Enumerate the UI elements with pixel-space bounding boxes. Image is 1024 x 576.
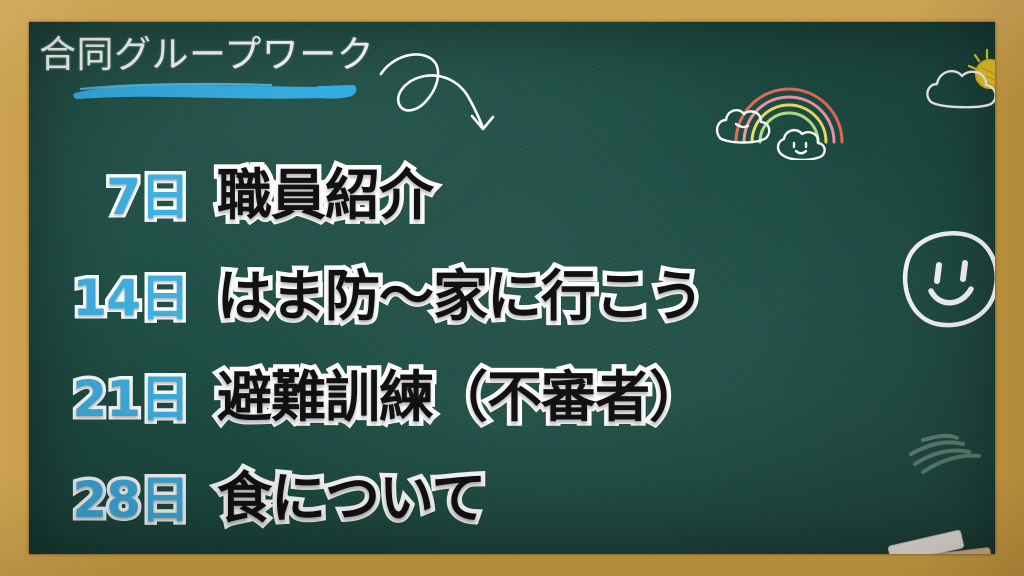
chalk-scribble-icon [893,424,995,486]
schedule-row: 7日 職員紹介 [29,150,789,251]
schedule-topic: 避難訓練（不審者） [217,352,703,432]
title-underline-swoosh [71,80,359,102]
schedule-topic: 職員紹介 [217,150,433,230]
schedule-row: 28日 食について [29,453,789,554]
schedule-date: 14日 [29,258,189,330]
curly-arrow-icon [377,48,507,138]
rainbow-with-clouds-icon [714,50,864,160]
schedule-row: 14日 はま防〜家に行こう [29,251,789,352]
schedule-date: 28日 [29,460,189,532]
schedule-row: 21日 避難訓練（不審者） [29,352,789,453]
chalk-sticks-icon [887,518,995,554]
slide-canvas: 合同グループワーク 7日 職員紹介 14日 はま防〜家に行こう [0,0,1024,576]
smiley-face-icon [895,227,995,333]
schedule-date: 7日 [29,157,189,229]
schedule-topic: 食について [217,453,485,533]
chalkboard: 合同グループワーク 7日 職員紹介 14日 はま防〜家に行こう [29,22,995,554]
schedule-date: 21日 [29,359,189,431]
schedule-list: 7日 職員紹介 14日 はま防〜家に行こう 21日 避難訓練（不審者） 28日 … [29,150,789,554]
sun-behind-cloud-icon [925,46,995,120]
schedule-topic: はま防〜家に行こう [217,251,703,331]
